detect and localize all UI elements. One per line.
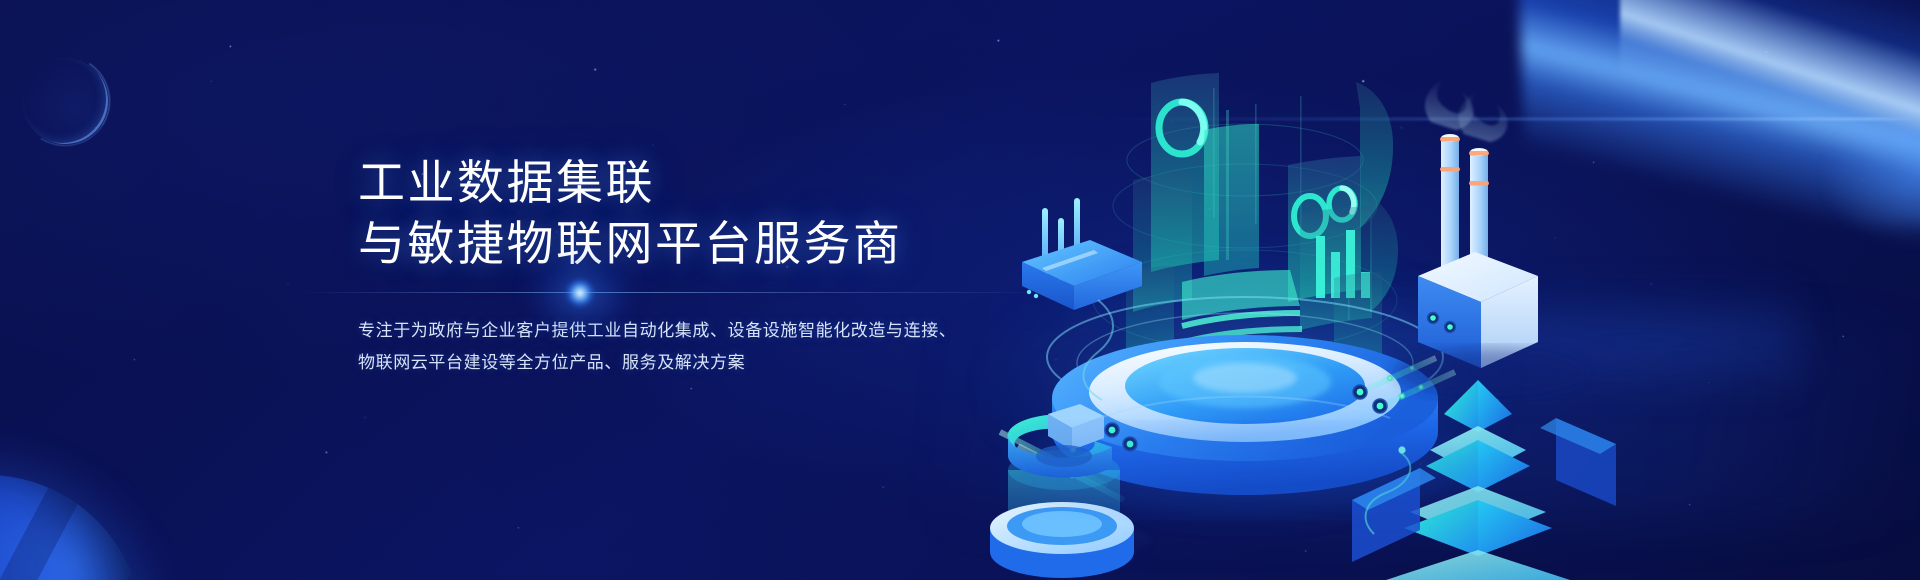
subtitle-line-2: 物联网云平台建设等全方位产品、服务及解决方案: [358, 347, 978, 378]
dome-core-highlight: [1193, 363, 1297, 393]
hologram-panel-center: [1204, 124, 1259, 276]
subtitle-line-1: 专注于为政府与企业客户提供工业自动化集成、设备设施智能化改造与连接、: [358, 315, 978, 346]
smokestack-band: [1469, 181, 1489, 186]
pyramid-tier4-top: [1386, 550, 1570, 580]
page-title: 工业数据集联 与敏捷物联网平台服务商: [358, 152, 978, 274]
headline-line-1: 工业数据集联: [358, 152, 978, 213]
dome-port-led: [1109, 427, 1116, 434]
page-subtitle: 专注于为政府与企业客户提供工业自动化集成、设备设施智能化改造与连接、 物联网云平…: [358, 315, 978, 378]
cable-node: [1387, 375, 1394, 382]
dome-port-led: [1357, 389, 1364, 396]
dome-floor-reflection: [1015, 428, 1475, 512]
title-divider: [298, 292, 1058, 293]
smokestack-band: [1440, 167, 1460, 172]
smokestack-band: [1440, 137, 1460, 142]
router-led: [1034, 294, 1038, 298]
sensor-pad: [990, 502, 1134, 578]
factory-port-led: [1430, 315, 1436, 321]
hero-text-block: 工业数据集联 与敏捷物联网平台服务商 专注于为政府与企业客户提供工业自动化集成、…: [358, 152, 978, 378]
cable-node: [1398, 392, 1406, 400]
smokestack-band: [1469, 151, 1489, 156]
smokestack: [1441, 138, 1459, 280]
factory-shadow: [1394, 348, 1586, 396]
factory-port-led: [1447, 324, 1453, 330]
dome-port-led: [1377, 403, 1384, 410]
headline-line-2: 与敏捷物联网平台服务商: [358, 213, 978, 274]
hero-banner: 工业数据集联 与敏捷物联网平台服务商 专注于为政府与企业客户提供工业自动化集成、…: [0, 0, 1920, 580]
pad-ring-inner: [1022, 511, 1102, 537]
